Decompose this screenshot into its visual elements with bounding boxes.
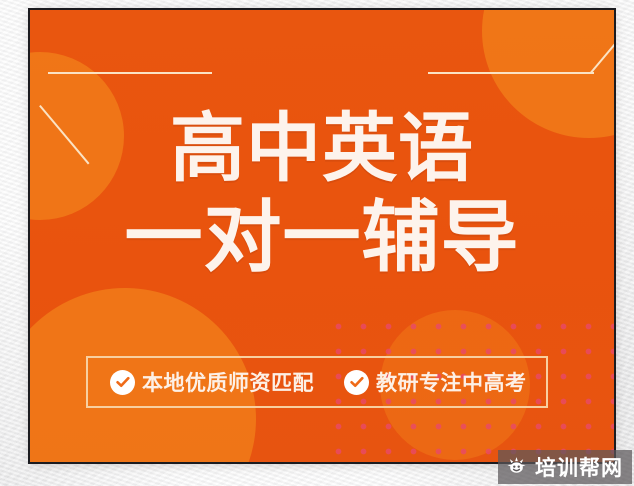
sun-face-icon [505,454,528,481]
feature-bar: 本地优质师资匹配 教研专注中高考 [86,356,548,408]
poster-root: 高中英语 一对一辅导 本地优质师资匹配 [0,0,634,486]
headline-block: 高中英语 一对一辅导 [30,106,614,282]
poster-card: 高中英语 一对一辅导 本地优质师资匹配 [28,8,616,464]
watermark-text: 培训帮网 [535,452,623,482]
feature-label-0: 本地优质师资匹配 [142,367,314,397]
headline-line-1: 高中英语 [30,106,614,190]
headline-line-2: 一对一辅导 [30,194,614,282]
check-circle-icon [110,370,135,395]
feature-label-1: 教研专注中高考 [376,367,527,397]
check-circle-icon [344,370,369,395]
decor-rule-top-left-horizontal [48,72,212,74]
feature-item-local-teachers: 本地优质师资匹配 [110,367,314,397]
watermark: 培训帮网 [498,450,632,484]
feature-item-exam-focus: 教研专注中高考 [344,367,527,397]
poster-card-surface: 高中英语 一对一辅导 本地优质师资匹配 [30,10,614,462]
decor-rule-top-right-horizontal [428,72,594,74]
